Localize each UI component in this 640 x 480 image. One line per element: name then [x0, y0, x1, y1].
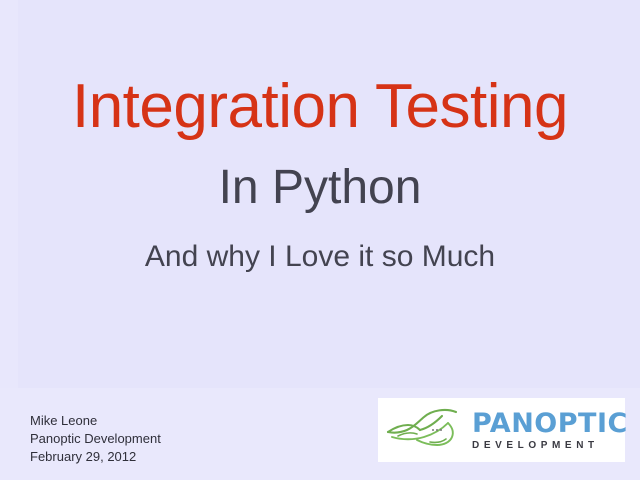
presenter-info: Mike Leone Panoptic Development February… [30, 412, 161, 466]
slide-subtitle: In Python [0, 138, 640, 212]
presentation-slide: Integration Testing In Python And why I … [0, 0, 640, 480]
presenter-company: Panoptic Development [30, 430, 161, 448]
panoptic-logo: PANOPTIC DEVELOPMENT [378, 398, 625, 462]
panoptic-wordmark-group: PANOPTIC DEVELOPMENT [470, 410, 628, 451]
panoptic-bird-mark-icon [384, 406, 470, 454]
presenter-name: Mike Leone [30, 412, 161, 430]
slide-title: Integration Testing [0, 76, 640, 138]
title-block: Integration Testing In Python And why I … [0, 76, 640, 272]
presentation-date: February 29, 2012 [30, 448, 161, 466]
slide-tagline: And why I Love it so Much [0, 212, 640, 272]
panoptic-dots-icon [432, 429, 442, 431]
panoptic-logo-tagline: DEVELOPMENT [472, 437, 628, 451]
panoptic-wordmark: PANOPTIC [472, 410, 628, 437]
